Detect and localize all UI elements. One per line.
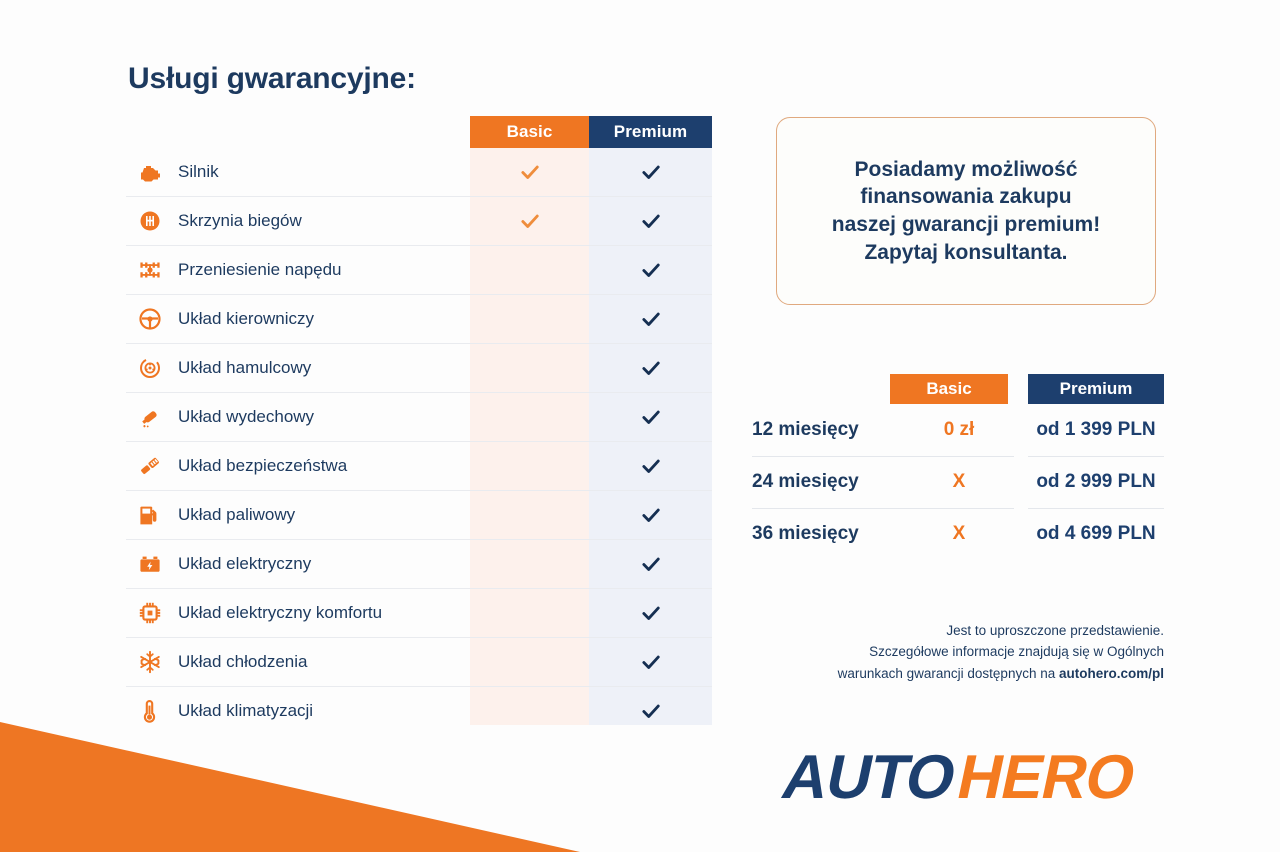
pricing-header-row: Basic Premium: [752, 374, 1164, 404]
exhaust-icon: [126, 405, 174, 429]
feature-cell-premium: [589, 455, 712, 477]
table-row: Układ bezpieczeństwa: [126, 441, 712, 490]
comparison-rows: SilnikSkrzynia biegówPrzeniesienie napęd…: [126, 148, 712, 735]
pricing-value-premium: od 2 999 PLN: [1028, 471, 1164, 493]
logo-text-auto: AUTO: [776, 748, 961, 810]
feature-label: Układ kierowniczy: [174, 309, 470, 329]
check-icon: [640, 357, 662, 379]
disclaimer-footnote: Jest to uproszczone przedstawienie. Szcz…: [730, 620, 1164, 684]
autohero-link[interactable]: autohero.com/pl: [1059, 666, 1164, 681]
comparison-header-row: Basic Premium: [470, 116, 712, 148]
fuel-pump-icon: [126, 503, 174, 527]
feature-cell-premium: [589, 308, 712, 330]
check-icon: [640, 308, 662, 330]
feature-cell-premium: [589, 210, 712, 232]
feature-cell-premium: [589, 651, 712, 673]
pricing-divider-left: [752, 456, 1014, 457]
logo-text-hero: HERO: [951, 748, 1141, 810]
steering-wheel-icon: [126, 307, 174, 331]
feature-label: Układ paliwowy: [174, 505, 470, 525]
pricing-term-label: 36 miesięcy: [752, 523, 890, 545]
check-icon: [640, 651, 662, 673]
gearbox-icon: [126, 209, 174, 233]
check-icon: [519, 161, 541, 183]
table-row: Silnik: [126, 148, 712, 196]
feature-label: Układ elektryczny: [174, 554, 470, 574]
table-row: Układ klimatyzacji: [126, 686, 712, 735]
pricing-header-basic: Basic: [890, 374, 1008, 404]
table-row: Układ kierowniczy: [126, 294, 712, 343]
table-row: Układ hamulcowy: [126, 343, 712, 392]
feature-label: Układ wydechowy: [174, 407, 470, 427]
check-icon: [640, 406, 662, 428]
callout-line-2: finansowania zakupu: [832, 183, 1100, 211]
pricing-value-basic: 0 zł: [890, 419, 1028, 441]
table-row: Przeniesienie napędu: [126, 245, 712, 294]
callout-line-1: Posiadamy możliwość: [832, 156, 1100, 184]
table-row: Układ elektryczny: [126, 539, 712, 588]
check-icon: [640, 504, 662, 526]
feature-label: Układ chłodzenia: [174, 652, 470, 672]
feature-cell-premium: [589, 553, 712, 575]
engine-icon: [126, 160, 174, 184]
footnote-line-3: warunkach gwarancji dostępnych na autohe…: [730, 663, 1164, 684]
pricing-row: 24 miesięcyXod 2 999 PLN: [752, 456, 1164, 508]
seatbelt-icon: [126, 454, 174, 478]
pricing-table: Basic Premium 12 miesięcy0 złod 1 399 PL…: [752, 374, 1164, 560]
warranty-comparison-table: Basic Premium SilnikSkrzynia biegówPrzen…: [126, 116, 712, 735]
feature-label: Układ hamulcowy: [174, 358, 470, 378]
snowflake-icon: [126, 650, 174, 674]
feature-cell-basic: [470, 161, 589, 183]
pricing-value-premium: od 4 699 PLN: [1028, 523, 1164, 545]
column-header-basic: Basic: [470, 116, 589, 148]
table-row: Skrzynia biegów: [126, 196, 712, 245]
check-icon: [640, 259, 662, 281]
pricing-divider-right: [1028, 456, 1164, 457]
table-row: Układ chłodzenia: [126, 637, 712, 686]
check-icon: [640, 210, 662, 232]
brake-disc-icon: [126, 356, 174, 380]
financing-callout-text: Posiadamy możliwość finansowania zakupu …: [814, 156, 1118, 267]
feature-cell-premium: [589, 406, 712, 428]
feature-cell-premium: [589, 357, 712, 379]
pricing-value-basic: X: [890, 523, 1028, 545]
feature-label: Układ bezpieczeństwa: [174, 456, 470, 476]
feature-label: Układ klimatyzacji: [174, 701, 470, 721]
table-row: Układ elektryczny komfortu: [126, 588, 712, 637]
callout-line-4: Zapytaj konsultanta.: [832, 239, 1100, 267]
check-icon: [519, 210, 541, 232]
pricing-term-label: 12 miesięcy: [752, 419, 890, 441]
autohero-logo: AUTO HERO: [760, 748, 1164, 810]
feature-label: Układ elektryczny komfortu: [174, 603, 470, 623]
page-title: Usługi gwarancyjne:: [128, 62, 416, 96]
feature-cell-premium: [589, 161, 712, 183]
thermometer-icon: [126, 699, 174, 723]
pricing-header-premium: Premium: [1028, 374, 1164, 404]
pricing-divider-right: [1028, 508, 1164, 509]
drivetrain-icon: [126, 258, 174, 282]
check-icon: [640, 455, 662, 477]
footnote-line-2: Szczegółowe informacje znajdują się w Og…: [730, 641, 1164, 662]
pricing-rows: 12 miesięcy0 złod 1 399 PLN24 miesięcyXo…: [752, 404, 1164, 560]
feature-label: Skrzynia biegów: [174, 211, 470, 231]
pricing-term-label: 24 miesięcy: [752, 471, 890, 493]
column-header-premium: Premium: [589, 116, 712, 148]
chip-icon: [126, 601, 174, 625]
pricing-value-basic: X: [890, 471, 1028, 493]
footnote-line-1: Jest to uproszczone przedstawienie.: [730, 620, 1164, 641]
pricing-divider-left: [752, 508, 1014, 509]
feature-cell-premium: [589, 259, 712, 281]
check-icon: [640, 553, 662, 575]
feature-cell-basic: [470, 210, 589, 232]
financing-callout-box: Posiadamy możliwość finansowania zakupu …: [776, 117, 1156, 305]
feature-cell-premium: [589, 700, 712, 722]
pricing-row: 36 miesięcyXod 4 699 PLN: [752, 508, 1164, 560]
callout-line-3: naszej gwarancji premium!: [832, 211, 1100, 239]
table-row: Układ paliwowy: [126, 490, 712, 539]
check-icon: [640, 602, 662, 624]
pricing-row: 12 miesięcy0 złod 1 399 PLN: [752, 404, 1164, 456]
feature-label: Silnik: [174, 162, 470, 182]
check-icon: [640, 700, 662, 722]
battery-icon: [126, 552, 174, 576]
check-icon: [640, 161, 662, 183]
feature-cell-premium: [589, 602, 712, 624]
feature-cell-premium: [589, 504, 712, 526]
poster-canvas: Usługi gwarancyjne: Basic Premium Silnik…: [0, 0, 1280, 852]
feature-label: Przeniesienie napędu: [174, 260, 470, 280]
pricing-value-premium: od 1 399 PLN: [1028, 419, 1164, 441]
table-row: Układ wydechowy: [126, 392, 712, 441]
footnote-line-3-prefix: warunkach gwarancji dostępnych na: [838, 666, 1059, 681]
